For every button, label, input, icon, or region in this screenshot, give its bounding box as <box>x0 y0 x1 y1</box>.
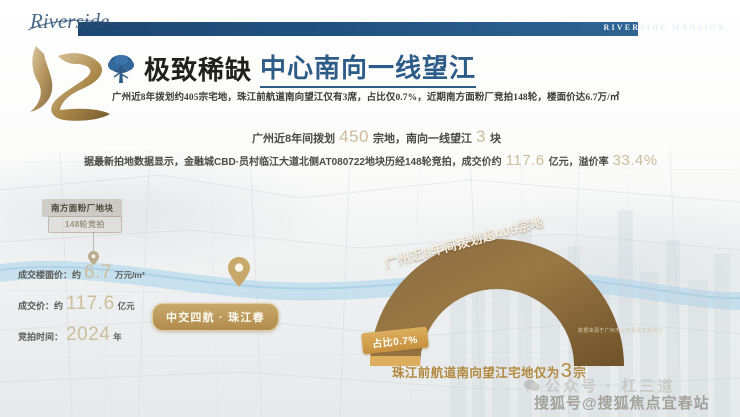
chart-source-note: 数据来源于广州市公共资源交易中心 <box>578 327 663 334</box>
metric-auction-date: 竞拍时间： 2024 年 <box>18 324 122 346</box>
brand-english-name: RIVERSIDE MANSION <box>603 23 726 32</box>
metric-auction-date-unit: 年 <box>113 331 122 343</box>
stat-two-number-a: 117.6 <box>504 152 547 169</box>
metric-floor-price-unit: 万元/m² <box>115 269 145 281</box>
infographic-page: Riverside RIVERSIDE MANSION 极致稀缺 中心南向一线望… <box>0 0 740 417</box>
stat-line-one: 广州近8年间拨划 450 宗地，南向一线望江 3 块 <box>252 127 501 147</box>
tree-icon <box>106 52 136 84</box>
stat-two-pre: 据最新拍地数据显示，金融城CBD·员村临江大道北侧AT080722地块历经148… <box>84 153 502 168</box>
metric-floor-price-value: 6.7 <box>84 262 112 284</box>
title-part-one: 极致稀缺 <box>144 50 252 87</box>
stat-one-number-a: 450 <box>337 127 371 147</box>
metric-deal-price: 成交价：约 117.6 亿元 <box>18 293 135 315</box>
stat-one-mid: 宗地，南向一线望江 <box>373 130 472 146</box>
stat-two-mid: 亿元，溢价率 <box>549 153 609 168</box>
title-part-two: 中心南向一线望江 <box>260 48 476 88</box>
plot-rounds-tag: 148轮竞拍 <box>48 216 122 233</box>
riverside-script-logo: Riverside <box>24 4 134 40</box>
plot-tag: 南方面粉厂地块 <box>42 199 122 217</box>
wechat-icon <box>524 379 540 392</box>
stat-one-number-b: 3 <box>474 127 488 147</box>
location-pin-icon <box>228 257 250 287</box>
metric-auction-date-value: 2024 <box>66 324 110 346</box>
project-name-badge: 中交四航 · 珠江春 <box>152 303 279 331</box>
metric-auction-date-label: 竞拍时间： <box>18 330 63 343</box>
metric-deal-price-unit: 亿元 <box>118 300 135 312</box>
subtitle-text: 广州近8年拨划约405宗宅地，珠江前航道南向望江仅有3席，占比仅0.7%，近期南… <box>112 89 682 103</box>
stat-two-number-b: 33.4% <box>611 152 660 169</box>
stat-line-two: 据最新拍地数据显示，金融城CBD·员村临江大道北侧AT080722地块历经148… <box>84 152 660 169</box>
metric-deal-price-value: 117.6 <box>66 293 115 315</box>
brand-bar <box>78 22 638 36</box>
page-title: 极致稀缺 中心南向一线望江 <box>106 48 476 88</box>
metric-floor-price: 成交楼面价：约 6.7 万元/m² <box>18 262 145 284</box>
metric-deal-price-label: 成交价：约 <box>18 299 63 312</box>
watermark-source: 搜狐号@搜狐焦点宜春站 <box>534 392 710 413</box>
stat-one-pre: 广州近8年间拨划 <box>252 130 335 146</box>
metric-floor-price-label: 成交楼面价：约 <box>18 268 81 281</box>
stat-one-post: 块 <box>490 130 501 146</box>
